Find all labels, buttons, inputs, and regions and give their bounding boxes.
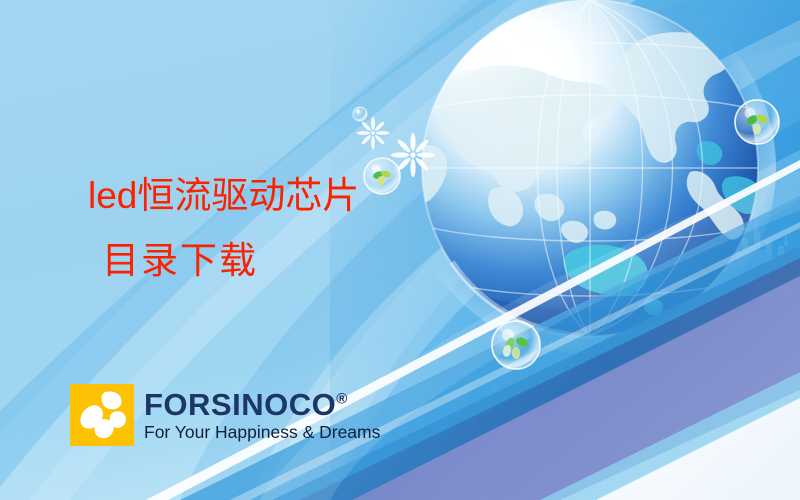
page-title: led恒流驱动芯片 目录下载 — [88, 163, 359, 295]
headline-line-1: led恒流驱动芯片 — [88, 163, 359, 229]
bubble-icon — [364, 158, 400, 194]
bubble-icon — [735, 100, 779, 144]
bubble-icon — [353, 107, 367, 121]
registered-trademark-icon: ® — [336, 391, 348, 408]
pinwheel-flower-icon — [70, 384, 134, 446]
bubble-icon — [492, 321, 540, 369]
logo-wordmark: FORSINOCO® For Your Happiness & Dreams — [144, 384, 380, 442]
brand-name: FORSINOCO® — [144, 389, 348, 420]
brand-text: FORSINOCO — [144, 387, 336, 422]
brand-tagline: For Your Happiness & Dreams — [144, 424, 380, 442]
company-logo: FORSINOCO® For Your Happiness & Dreams — [70, 384, 380, 446]
banner-image: led恒流驱动芯片 目录下载 FORSINOCO® For Your Happ — [0, 0, 800, 500]
headline-line-2: 目录下载 — [102, 229, 359, 295]
